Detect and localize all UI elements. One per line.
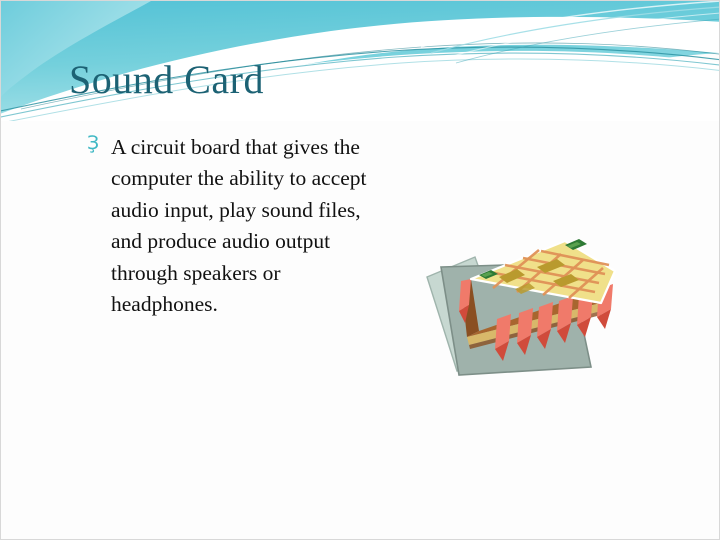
sound-card-svg: [419, 219, 629, 384]
body-content: Ҙ A circuit board that gives the compute…: [87, 132, 377, 321]
presentation-slide: Sound Card Ҙ A circuit board that gives …: [0, 0, 720, 540]
teal-swirl-bullet-icon: Ҙ: [87, 134, 99, 153]
sound-card-illustration: [419, 219, 629, 384]
list-item-label: A circuit board that gives the computer …: [111, 132, 377, 321]
page-title: Sound Card: [69, 59, 264, 101]
list-item: Ҙ A circuit board that gives the compute…: [87, 132, 377, 321]
